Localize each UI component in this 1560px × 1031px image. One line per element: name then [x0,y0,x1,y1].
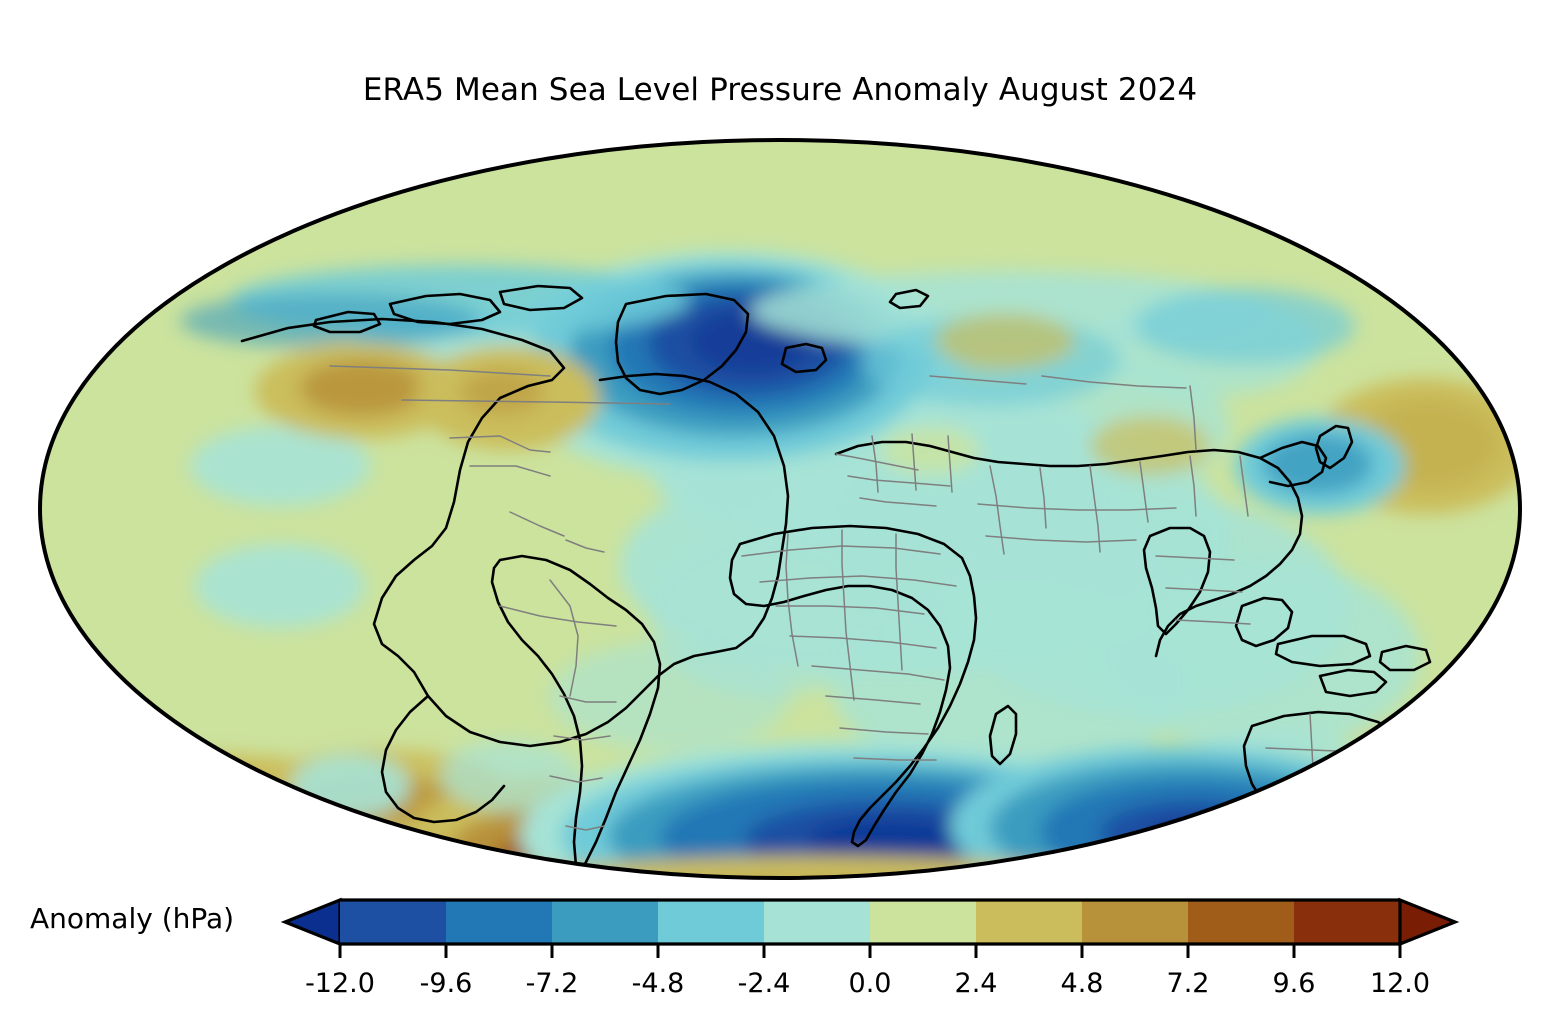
colorbar-tick-label: 12.0 [1370,968,1430,999]
colorbar-tick-label: 4.8 [1061,968,1104,999]
colorbar-swatch [340,900,447,944]
colorbar-ticks [340,944,1400,958]
page-title: ERA5 Mean Sea Level Pressure Anomaly Aug… [0,72,1560,108]
colorbar-tick-label: 9.6 [1273,968,1316,999]
colorbar-tick-label: -7.2 [526,968,579,999]
colorbar-swatch [1294,900,1401,944]
colorbar[interactable]: Anomaly (hPa) -12.0-9.6-7.2-4.8-2.40.02.… [0,888,1560,1008]
anomaly-field [50,251,1530,882]
colorbar-extend-max [1400,900,1455,944]
colorbar-swatch [552,900,659,944]
colorbar-swatch [1082,900,1189,944]
colorbar-swatch [976,900,1083,944]
colorbar-tick-label: 2.4 [955,968,998,999]
colorbar-swatches [285,900,1455,944]
colorbar-extend-min [285,900,340,944]
colorbar-swatch [658,900,765,944]
colorbar-swatch [764,900,871,944]
colorbar-tick-labels: -12.0-9.6-7.2-4.8-2.40.02.44.87.29.612.0 [305,968,1430,999]
colorbar-tick-label: -2.4 [738,968,791,999]
colorbar-svg[interactable]: -12.0-9.6-7.2-4.8-2.40.02.44.87.29.612.0 [0,888,1560,1008]
colorbar-tick-label: 0.0 [849,968,892,999]
colorbar-tick-label: -12.0 [305,968,375,999]
colorbar-swatch [446,900,553,944]
colorbar-tick-label: -9.6 [420,968,473,999]
colorbar-tick-label: -4.8 [632,968,685,999]
map-axes[interactable] [30,136,1530,882]
figure-canvas: ERA5 Mean Sea Level Pressure Anomaly Aug… [0,0,1560,1031]
colorbar-swatch [870,900,977,944]
colorbar-tick-label: 7.2 [1167,968,1210,999]
colorbar-swatch [1188,900,1295,944]
